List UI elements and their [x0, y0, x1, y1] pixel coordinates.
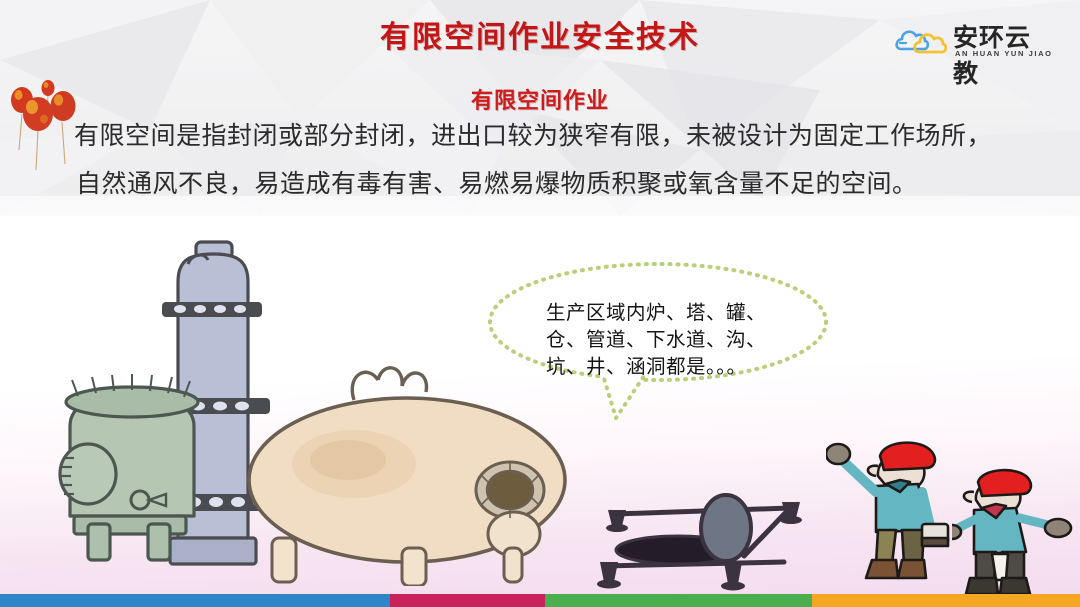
- slide-root: 有限空间作业安全技术 有限空间作业 有限空间是指封闭或部分封闭，进出口较为狭窄有…: [0, 0, 1080, 607]
- bubble-line-2: 仓、管道、下水道、沟、: [546, 327, 786, 354]
- brand-logo: 安环云教 AN HUAN YUN JIAO: [895, 18, 1055, 68]
- worker-standing-icon: [952, 468, 1080, 594]
- logo-pinyin: AN HUAN YUN JIAO: [955, 49, 1053, 58]
- footer-segment-green: [545, 594, 812, 607]
- footer-segment-blue: [0, 594, 390, 607]
- worker-pointing-icon: [826, 438, 962, 586]
- illustration-panel: 生产区域内炉、塔、罐、 仓、管道、下水道、沟、 坑、井、涵洞都是。。。: [0, 216, 1080, 594]
- definition-line-1: 有限空间是指封闭或部分封闭，进出口较为狭窄有限，未被设计为固定工作场所，: [74, 112, 1018, 160]
- green-vessel-icon: [48, 374, 238, 566]
- section-subtitle: 有限空间作业: [0, 83, 1080, 115]
- speech-bubble: 生产区域内炉、塔、罐、 仓、管道、下水道、沟、 坑、井、涵洞都是。。。: [484, 260, 832, 420]
- header-panel: 有限空间作业安全技术 有限空间作业 有限空间是指封闭或部分封闭，进出口较为狭窄有…: [0, 0, 1080, 216]
- definition-text: 有限空间是指封闭或部分封闭，进出口较为狭窄有限，未被设计为固定工作场所， 自然通…: [74, 112, 1018, 208]
- bubble-line-3: 坑、井、涵洞都是。。。: [546, 354, 786, 381]
- footer-segment-crimson: [390, 594, 545, 607]
- bubble-line-1: 生产区域内炉、塔、罐、: [546, 300, 786, 327]
- cloud-icon: [895, 24, 947, 58]
- speech-bubble-text: 生产区域内炉、塔、罐、 仓、管道、下水道、沟、 坑、井、涵洞都是。。。: [546, 300, 786, 381]
- footer-segment-orange: [812, 594, 1080, 607]
- open-manhole-icon: [594, 492, 806, 594]
- definition-line-2: 自然通风不良，易造成有毒有害、易燃易爆物质积聚或氧含量不足的空间。: [74, 160, 1018, 208]
- footer-color-bar: [0, 594, 1080, 607]
